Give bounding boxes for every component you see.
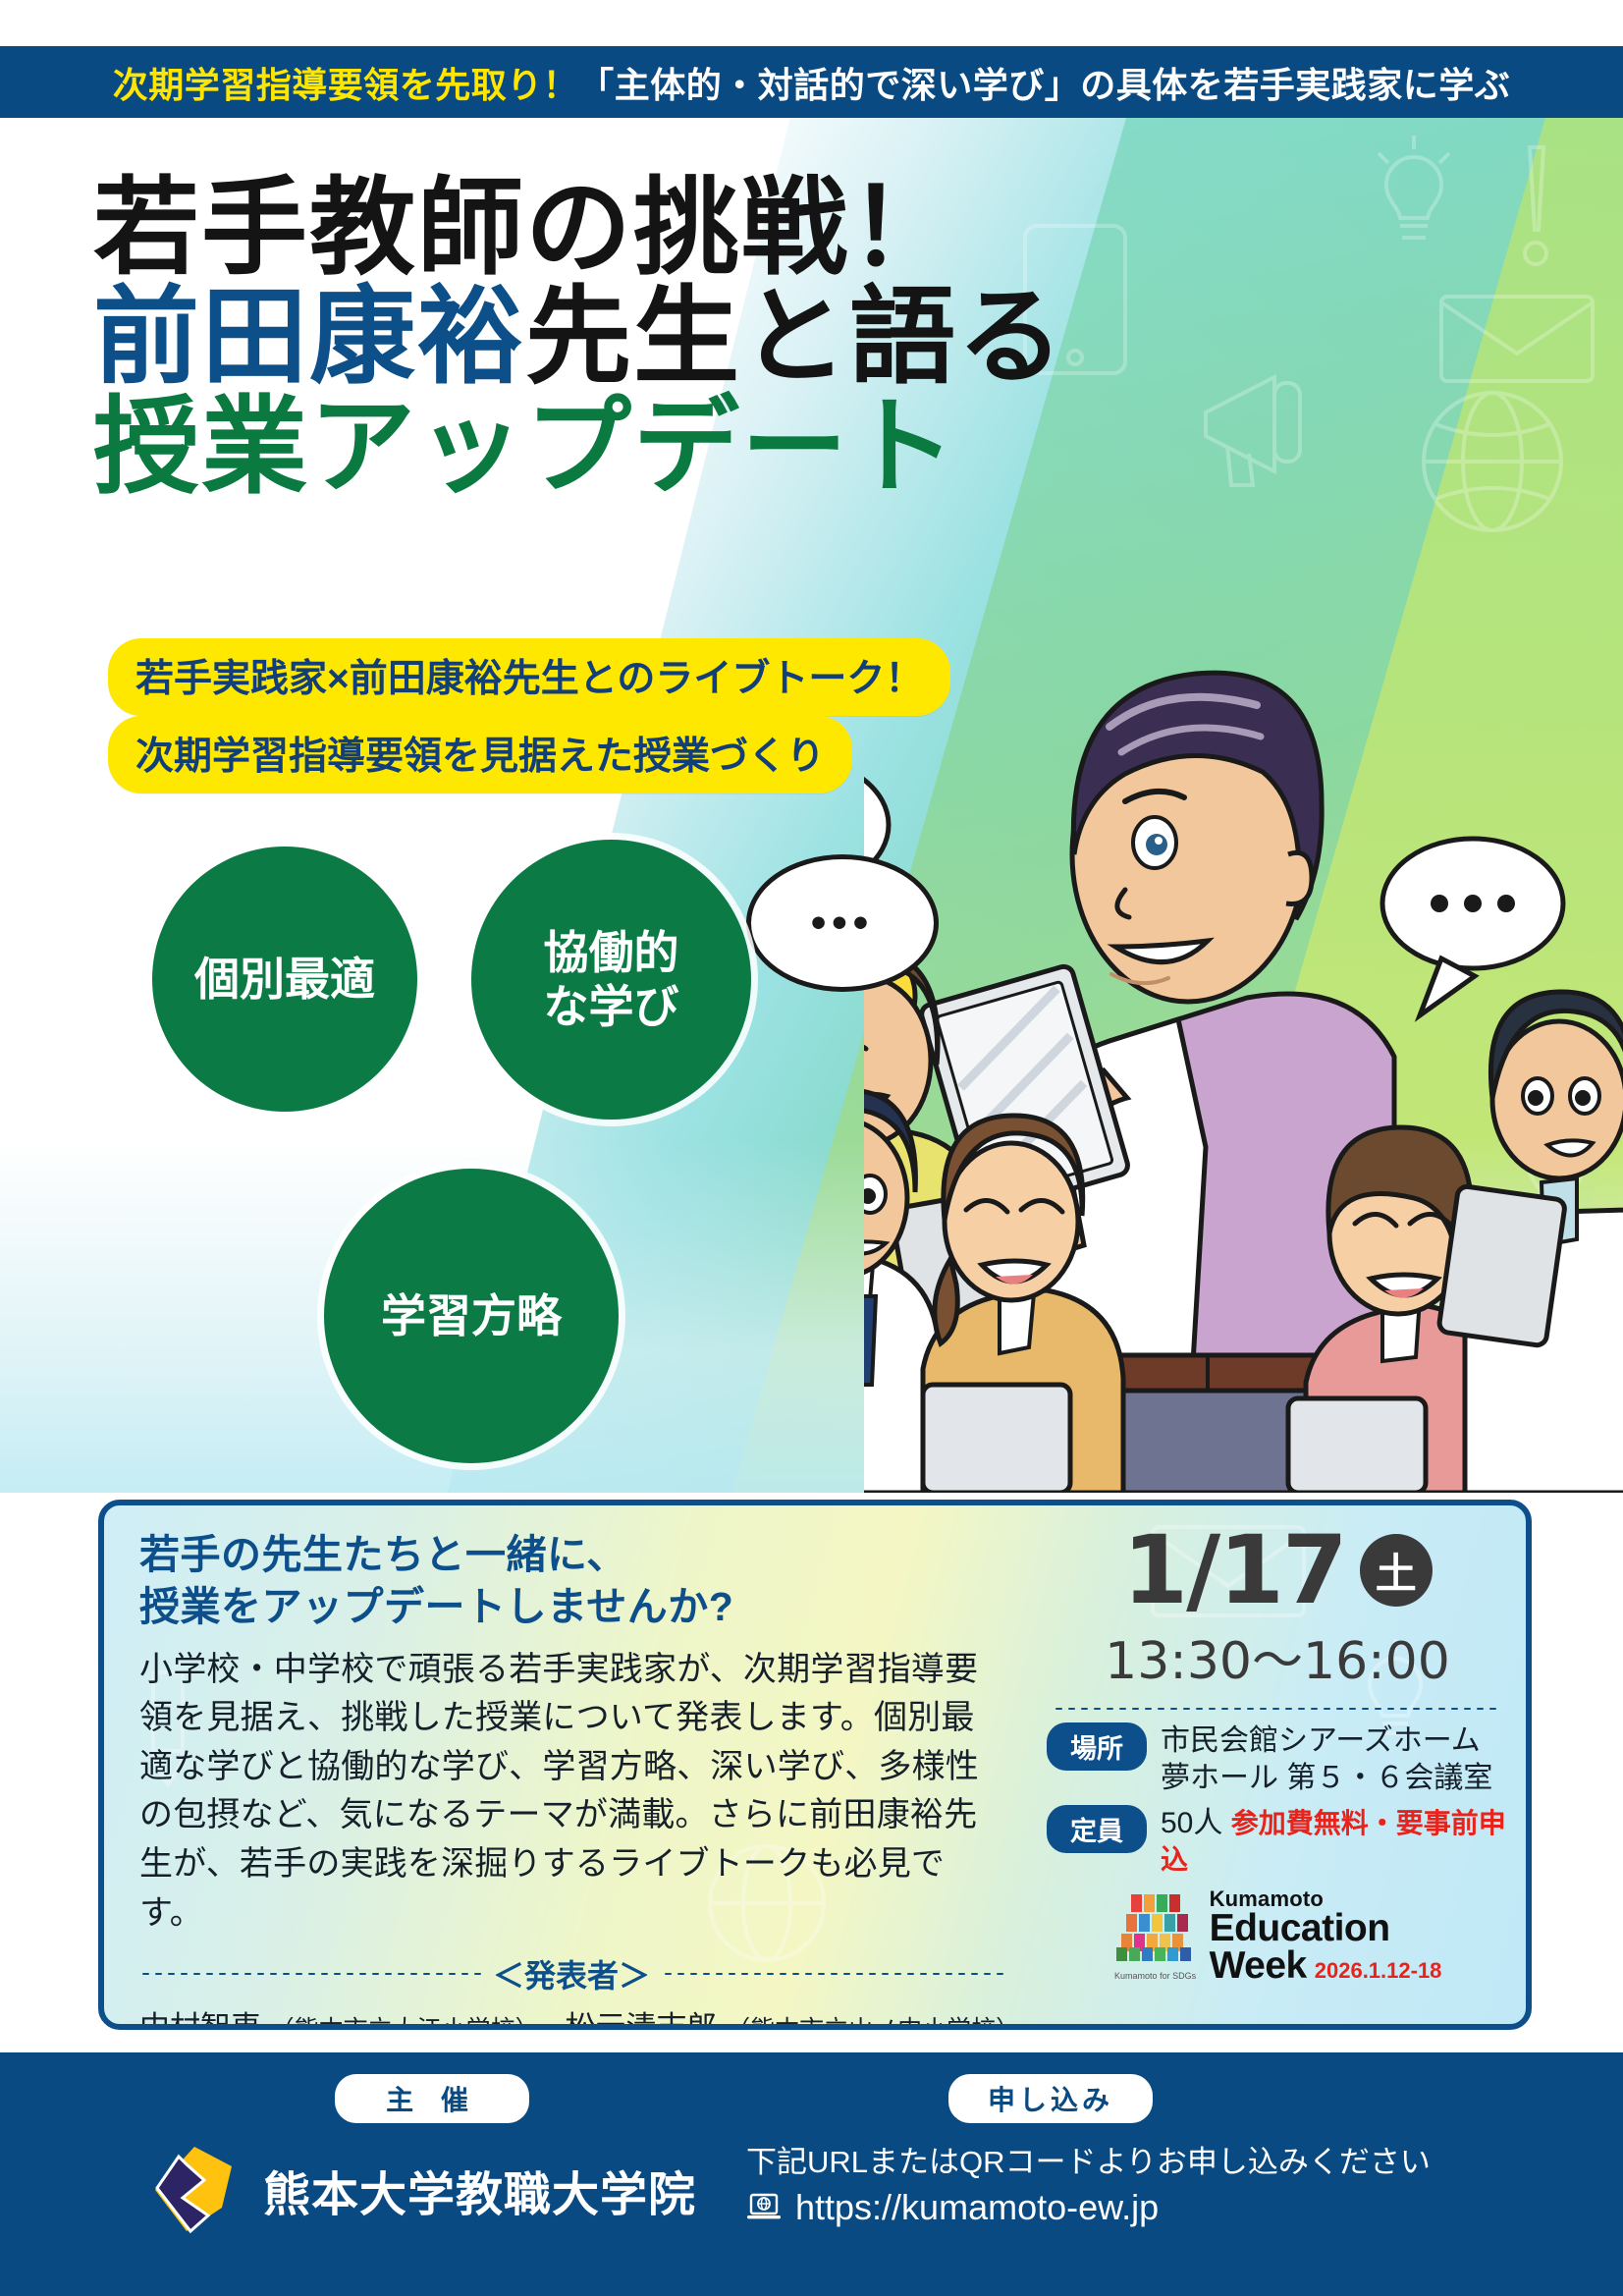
globe-doodle-icon-2 (10, 864, 177, 1031)
page-title: 若手教師の挑戦！ 前田康裕先生と語る 授業アップデート (93, 172, 1065, 506)
info-body-text: 小学校・中学校で頑張る若手実践家が、次期学習指導要領を見据え、挑戦した授業につい… (139, 1646, 1003, 1939)
apply-url-text[interactable]: https://kumamoto-ew.jp (795, 2187, 1159, 2228)
presenter-row: 中村智恵 （熊本市立大江小学校） 松元清志郎 （熊本市立山ノ内小学校） (139, 2006, 1003, 2030)
top-banner: 次期学習指導要領を先取り！ 「主体的・対話的で深い学び」の具体を若手実践家に学ぶ (0, 46, 1623, 118)
host-label-pill: 主 催 (335, 2074, 529, 2123)
event-time: 13:30〜16:00 (1047, 1619, 1508, 1693)
venue-line-1: 市民会館シアーズホーム (1161, 1724, 1481, 1757)
divider-line-left (139, 1972, 481, 1976)
keyword-circle-collaborative-learning: 協働的な学び (471, 840, 751, 1120)
presenter-name: 中村智恵 (139, 2010, 261, 2030)
kew-dates-text: 2026.1.12-18 (1315, 1960, 1442, 1986)
title-line-1: 若手教師の挑戦！ (93, 172, 1065, 287)
venue-label-tag: 場所 (1047, 1722, 1147, 1771)
presenters-divider: ＜発表者＞ (139, 1951, 1003, 1996)
divider-line-right (662, 1972, 1003, 1976)
lightbulb-doodle-icon (1355, 128, 1473, 265)
capacity-value: 50人 (1161, 1807, 1222, 1839)
footer-bar: 主 催 熊本大学教職大学院 申し込み 下記URLまたはQRコードよりお申し込みく… (0, 2052, 1623, 2296)
subtitle-pill-group: 若手実践家×前田康裕先生とのライブトーク！ 次期学習指導要領を見据えた授業づくり (108, 638, 950, 793)
banner-highlight-text: 次期学習指導要領を先取り！ (113, 57, 579, 108)
kumamoto-university-logo-icon (147, 2137, 238, 2243)
exclamation-doodle-icon (1502, 137, 1571, 285)
presenters-label: ＜発表者＞ (493, 1951, 650, 1996)
presenter-school: （熊本市立山ノ内小学校） (726, 2016, 1020, 2030)
presenter-school: （熊本市立大江小学校） (270, 2016, 540, 2030)
presenters-list: 中村智恵 （熊本市立大江小学校） 松元清志郎 （熊本市立山ノ内小学校） 横山知明… (139, 2006, 1003, 2030)
venue-line-2: 夢ホール 第５・６会議室 (1161, 1762, 1492, 1794)
kew-blocks-icon (1113, 1892, 1198, 1963)
info-heading-line-2: 授業をアップデートしませんか? (139, 1581, 1003, 1633)
venue-value: 市民会館シアーズホーム 夢ホール 第５・６会議室 (1161, 1722, 1492, 1797)
info-heading: 若手の先生たちと一緒に、 授業をアップデートしませんか? (139, 1529, 1003, 1634)
title-line-2-rest: 先生と語る (525, 276, 1065, 399)
capacity-label-tag: 定員 (1047, 1805, 1147, 1853)
kew-tagline: Kumamoto for SDGs (1113, 1971, 1198, 1981)
title-speaker-name: 前田康裕 (93, 276, 525, 399)
kew-week-text: Week (1210, 1947, 1307, 1985)
subtitle-pill-2: 次期学習指導要領を見据えた授業づくり (108, 716, 852, 793)
presenter-name: 松元清志郎 (565, 2010, 717, 2030)
info-dotted-separator (1053, 1707, 1502, 1711)
globe-doodle-icon (1404, 373, 1581, 550)
laptop-globe-icon (746, 2193, 782, 2222)
event-day-of-week-badge: 土 (1360, 1534, 1433, 1607)
host-organization: 熊本大学教職大学院 (147, 2137, 717, 2243)
keyword-circle-learning-strategy: 学習方略 (324, 1169, 619, 1463)
host-organization-name: 熊本大学教職大学院 (263, 2156, 696, 2224)
megaphone-doodle-icon (1188, 344, 1375, 501)
speech-bubble-right (1382, 839, 1563, 1015)
banner-rest-text: 「主体的・対話的で深い学び」の具体を若手実践家に学ぶ (578, 57, 1510, 108)
info-right-column: 1/17 土 13:30〜16:00 場所 市民会館シアーズホーム 夢ホール 第… (1047, 1523, 1508, 1985)
apply-label-pill: 申し込み (948, 2074, 1153, 2123)
info-left-column: 若手の先生たちと一緒に、 授業をアップデートしませんか? 小学校・中学校で頑張る… (139, 1529, 1003, 2030)
speech-bubble-left-dots: ••• (746, 854, 939, 992)
footer-host-block: 主 催 熊本大学教職大学院 (147, 2074, 717, 2243)
ellipsis-dots: ••• (811, 914, 874, 932)
kumamoto-education-week-logo: Kumamoto for SDGs Kumamoto Education Wee… (1047, 1888, 1508, 1985)
kew-education-text: Education (1210, 1910, 1442, 1947)
kew-logo-text: Kumamoto Education Week 2026.1.12-18 (1210, 1888, 1442, 1985)
illustration-group: ••• (864, 609, 1623, 1493)
event-date-row: 1/17 土 (1047, 1523, 1508, 1617)
event-date: 1/17 (1122, 1523, 1345, 1617)
footer-apply-block: 申し込み 下記URLまたはQRコードよりお申し込みください https://ku… (746, 2074, 1355, 2228)
info-heading-line-1: 若手の先生たちと一緒に、 (139, 1529, 1003, 1581)
venue-row: 場所 市民会館シアーズホーム 夢ホール 第５・６会議室 (1047, 1722, 1508, 1797)
capacity-value-wrap: 50人 参加費無料・要事前申込 (1161, 1805, 1508, 1880)
kew-logo-mark: Kumamoto for SDGs (1113, 1892, 1198, 1981)
apply-url-row[interactable]: https://kumamoto-ew.jp (746, 2187, 1355, 2228)
apply-note: 下記URLまたはQRコードよりお申し込みください (746, 2137, 1355, 2181)
keyword-circle-individual-optimization: 個別最適 (152, 847, 417, 1112)
participant-right-male (1438, 992, 1623, 1493)
envelope-doodle-icon (1434, 285, 1600, 393)
capacity-row: 定員 50人 参加費無料・要事前申込 (1047, 1805, 1508, 1880)
title-line-2: 前田康裕先生と語る (93, 281, 1065, 396)
poster-root: 次期学習指導要領を先取り！ 「主体的・対話的で深い学び」の具体を若手実践家に学ぶ (0, 0, 1623, 2296)
event-info-panel: 若手の先生たちと一緒に、 授業をアップデートしませんか? 小学校・中学校で頑張る… (98, 1500, 1532, 2030)
people-illustration (864, 609, 1623, 1493)
title-line-3: 授業アップデート (93, 391, 1065, 506)
subtitle-pill-1: 若手実践家×前田康裕先生とのライブトーク！ (108, 638, 950, 716)
